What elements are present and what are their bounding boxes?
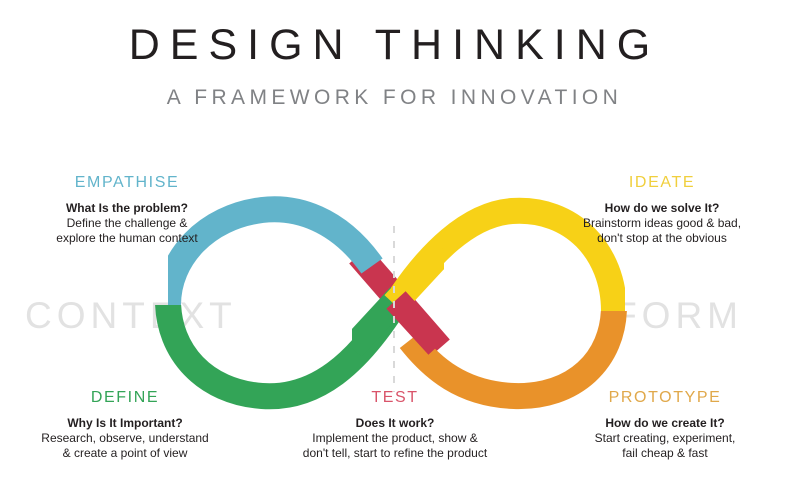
stage-desc-define-line2: & create a point of view: [12, 446, 238, 461]
stage-block-test: TEST Does It work? Implement the product…: [278, 390, 512, 461]
stage-question-empathise: What Is the problem?: [14, 201, 240, 216]
stage-desc-test-line1: Implement the product, show &: [278, 431, 512, 446]
stage-label-empathise: EMPATHISE: [14, 175, 240, 191]
stage-block-empathise: EMPATHISE What Is the problem? Define th…: [14, 175, 240, 246]
stage-label-test: TEST: [278, 390, 512, 406]
stage-label-define: DEFINE: [12, 390, 238, 406]
stage-label-ideate: IDEATE: [549, 175, 775, 191]
stage-question-define: Why Is It Important?: [12, 416, 238, 431]
stage-block-define: DEFINE Why Is It Important? Research, ob…: [12, 390, 238, 461]
stage-desc-define-line1: Research, observe, understand: [12, 431, 238, 446]
prototype-arc: [410, 306, 614, 396]
infographic-canvas: DESIGN THINKING A FRAMEWORK FOR INNOVATI…: [0, 0, 789, 478]
stage-question-test: Does It work?: [278, 416, 512, 431]
stage-desc-ideate-line2: don't stop at the obvious: [549, 231, 775, 246]
stage-label-prototype: PROTOTYPE: [552, 390, 778, 406]
stage-desc-test-line2: don't tell, start to refine the product: [278, 446, 512, 461]
stage-question-prototype: How do we create It?: [552, 416, 778, 431]
stage-block-prototype: PROTOTYPE How do we create It? Start cre…: [552, 390, 778, 461]
stage-block-ideate: IDEATE How do we solve It? Brainstorm id…: [549, 175, 775, 246]
stage-desc-prototype-line1: Start creating, experiment,: [552, 431, 778, 446]
stage-desc-prototype-line2: fail cheap & fast: [552, 446, 778, 461]
stage-desc-empathise-line1: Define the challenge &: [14, 216, 240, 231]
stage-question-ideate: How do we solve It?: [549, 201, 775, 216]
stage-desc-ideate-line1: Brainstorm ideas good & bad,: [549, 216, 775, 231]
stage-desc-empathise-line2: explore the human context: [14, 231, 240, 246]
